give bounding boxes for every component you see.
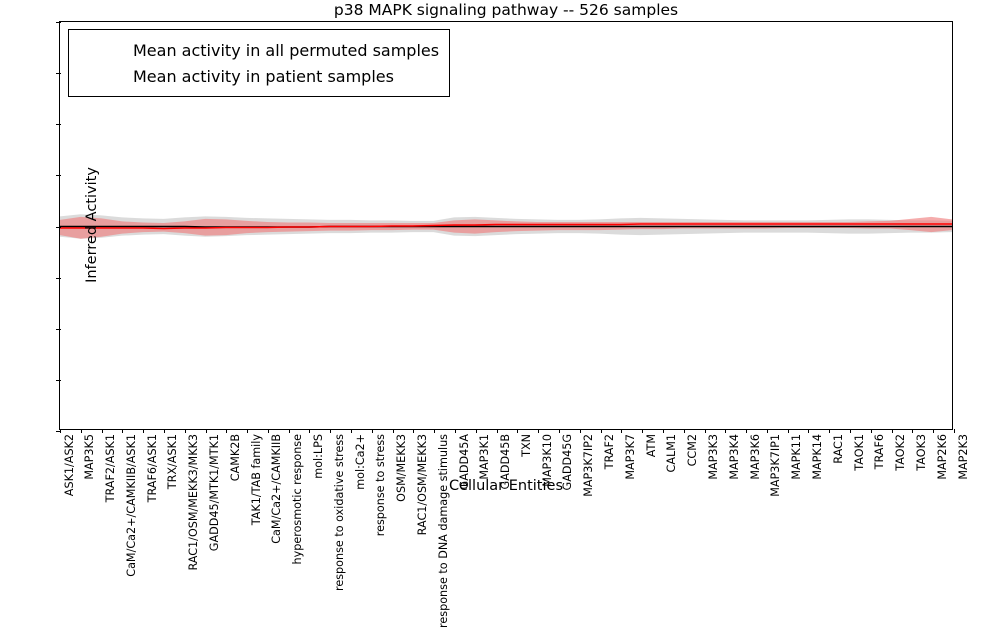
x-tick-label: MAP3K7IP1 [770, 434, 781, 497]
y-tick-mark [56, 124, 61, 125]
x-tick-label: TRAF2 [604, 434, 615, 469]
x-tick-mark [705, 429, 706, 434]
x-tick-label: MAP3K6 [750, 434, 761, 480]
x-tick-label: CALM1 [666, 434, 677, 472]
x-tick-mark [684, 429, 685, 434]
x-tick-label: TRAF2/ASK1 [105, 434, 116, 502]
x-tick-mark [434, 429, 435, 434]
x-tick-mark [788, 429, 789, 434]
x-tick-mark [393, 429, 394, 434]
x-tick-label: GADD45A [459, 434, 470, 489]
x-tick-mark [476, 429, 477, 434]
x-tick-label: GADD45B [500, 434, 511, 489]
x-tick-mark [206, 429, 207, 434]
x-tick-mark [559, 429, 560, 434]
x-tick-label: TRX/ASK1 [167, 434, 178, 489]
plot-area: −4−3−2−101234 Mean activity in all permu… [59, 21, 953, 430]
chart-legend: Mean activity in all permuted samples Me… [68, 29, 450, 97]
x-tick-label: MAP3K3 [708, 434, 719, 480]
x-tick-label: MAPK14 [812, 434, 823, 480]
y-tick-mark [56, 329, 61, 330]
legend-entry-permuted: Mean activity in all permuted samples [77, 37, 439, 63]
x-tick-label: MAP3K10 [542, 434, 553, 487]
y-tick-mark [56, 278, 61, 279]
chart-title: p38 MAPK signaling pathway -- 526 sample… [59, 1, 953, 19]
x-tick-mark [372, 429, 373, 434]
x-tick-label: MAPK11 [791, 434, 802, 480]
x-tick-mark [497, 429, 498, 434]
x-tick-mark [247, 429, 248, 434]
x-tick-label: mol:LPS [313, 434, 324, 479]
x-tick-mark [954, 429, 955, 434]
x-tick-mark [871, 429, 872, 434]
permuted-mean-line [60, 227, 952, 228]
x-tick-mark [621, 429, 622, 434]
x-tick-label: response to DNA damage stimulus [438, 434, 449, 628]
x-tick-mark [642, 429, 643, 434]
x-tick-mark [808, 429, 809, 434]
x-tick-mark [663, 429, 664, 434]
x-tick-mark [725, 429, 726, 434]
x-tick-mark [289, 429, 290, 434]
x-tick-mark [330, 429, 331, 434]
x-tick-mark [226, 429, 227, 434]
x-tick-mark [164, 429, 165, 434]
x-tick-mark [143, 429, 144, 434]
x-tick-label: mol:Ca2+ [355, 434, 366, 490]
x-tick-mark [538, 429, 539, 434]
legend-label-patient: Mean activity in patient samples [133, 67, 394, 86]
x-tick-mark [309, 429, 310, 434]
x-tick-label: response to stress [375, 434, 386, 536]
x-tick-label: MAP2K6 [937, 434, 948, 480]
x-tick-mark [601, 429, 602, 434]
x-tick-mark [767, 429, 768, 434]
x-tick-label: response to oxidative stress [334, 434, 345, 591]
x-tick-label: RAC1 [833, 434, 844, 464]
x-tick-label: GADD45G [562, 434, 573, 490]
x-tick-label: GADD45/MTK1/MTK1 [209, 434, 220, 551]
x-tick-label: MAP3K7IP2 [583, 434, 594, 497]
x-tick-label: CaM/Ca2+/CAMKIIB [271, 434, 282, 544]
x-tick-mark [746, 429, 747, 434]
x-tick-mark [850, 429, 851, 434]
legend-label-permuted: Mean activity in all permuted samples [133, 41, 439, 60]
x-tick-mark [351, 429, 352, 434]
x-tick-label: hyperosmotic response [292, 434, 303, 564]
x-tick-label: CAMK2B [230, 434, 241, 481]
x-tick-mark [413, 429, 414, 434]
y-tick-mark [56, 22, 61, 23]
x-tick-label: TXN [521, 434, 532, 457]
x-tick-label: MAP2K3 [958, 434, 969, 480]
x-tick-label: ASK1/ASK2 [64, 434, 75, 496]
x-tick-mark [455, 429, 456, 434]
x-tick-label: TRAF6 [874, 434, 885, 469]
x-tick-label: MAP3K4 [729, 434, 740, 480]
x-tick-mark [517, 429, 518, 434]
x-tick-mark [933, 429, 934, 434]
x-tick-label: MAP3K7 [625, 434, 636, 480]
x-tick-label: TAOK1 [854, 434, 865, 471]
x-tick-mark [81, 429, 82, 434]
x-tick-mark [102, 429, 103, 434]
x-tick-mark [892, 429, 893, 434]
legend-entry-patient: Mean activity in patient samples [77, 63, 439, 89]
x-tick-label: CCM2 [687, 434, 698, 466]
x-tick-mark [185, 429, 186, 434]
x-tick-label: TRAF6/ASK1 [147, 434, 158, 502]
chart-figure: p38 MAPK signaling pathway -- 526 sample… [0, 0, 1000, 500]
y-axis-label: Inferred Activity [84, 25, 100, 425]
x-tick-mark [580, 429, 581, 434]
x-tick-mark [268, 429, 269, 434]
x-tick-label: MAP3K5 [84, 434, 95, 480]
y-tick-mark [56, 73, 61, 74]
y-tick-mark [56, 175, 61, 176]
x-tick-label: RAC1/OSM/MEKK3/MKK3 [188, 434, 199, 571]
x-tick-label: CaM/Ca2+/CAMKIIB/ASK1 [126, 434, 137, 577]
x-tick-label: OSM/MEKK3 [396, 434, 407, 502]
y-tick-mark [56, 227, 61, 228]
x-tick-label: TAK1/TAB family [251, 434, 262, 525]
x-tick-label: MAP3K1 [479, 434, 490, 480]
x-tick-label: TAOK2 [895, 434, 906, 471]
x-tick-mark [829, 429, 830, 434]
y-tick-mark [56, 380, 61, 381]
x-tick-mark [122, 429, 123, 434]
x-tick-mark [60, 429, 61, 434]
x-tick-label: TAOK3 [916, 434, 927, 471]
x-tick-label: RAC1/OSM/MEKK3 [417, 434, 428, 535]
x-tick-label: ATM [646, 434, 657, 457]
x-tick-mark [912, 429, 913, 434]
